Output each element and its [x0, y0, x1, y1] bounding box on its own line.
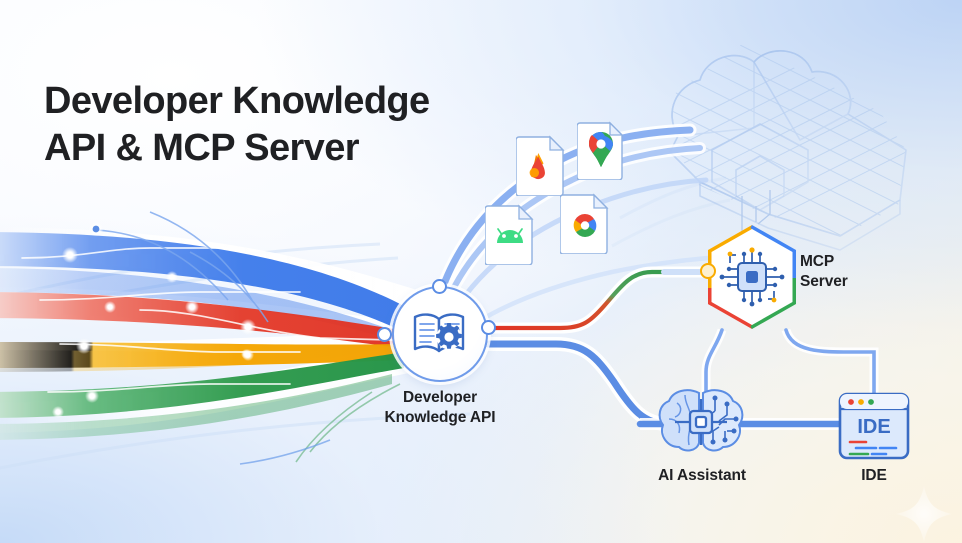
- doc-card-google-maps[interactable]: [577, 120, 625, 180]
- node-developer-knowledge-api[interactable]: Developer Knowledge API: [392, 286, 488, 382]
- diagram-canvas: Developer Knowledge API & MCP Server: [0, 0, 962, 543]
- doc-card-firebase[interactable]: [516, 134, 566, 196]
- api-port-right[interactable]: [481, 320, 496, 335]
- page-title: Developer Knowledge API & MCP Server: [44, 78, 430, 171]
- node-label-ide: IDE: [832, 466, 916, 486]
- node-label-developer-knowledge-api: Developer Knowledge API: [324, 388, 556, 428]
- ide-screen-text: IDE: [857, 416, 890, 438]
- api-port-top[interactable]: [432, 279, 447, 294]
- doc-card-android[interactable]: [485, 203, 535, 265]
- node-mcp-server[interactable]: [702, 222, 802, 332]
- ide-window-icon: IDE: [838, 392, 910, 460]
- book-gear-icon: [411, 307, 469, 361]
- node-ide[interactable]: IDE: [838, 392, 910, 460]
- node-ai-assistant[interactable]: [655, 385, 747, 457]
- node-label-ai-assistant: AI Assistant: [622, 466, 782, 486]
- window-traffic-dots: [848, 399, 874, 405]
- doc-card-google-cloud[interactable]: [560, 192, 610, 254]
- api-node-circle[interactable]: [392, 286, 488, 382]
- brain-circuit-icon: [655, 385, 747, 457]
- node-label-mcp-server: MCP Server: [800, 252, 920, 292]
- mcp-port-left[interactable]: [700, 263, 716, 279]
- api-port-left[interactable]: [377, 327, 392, 342]
